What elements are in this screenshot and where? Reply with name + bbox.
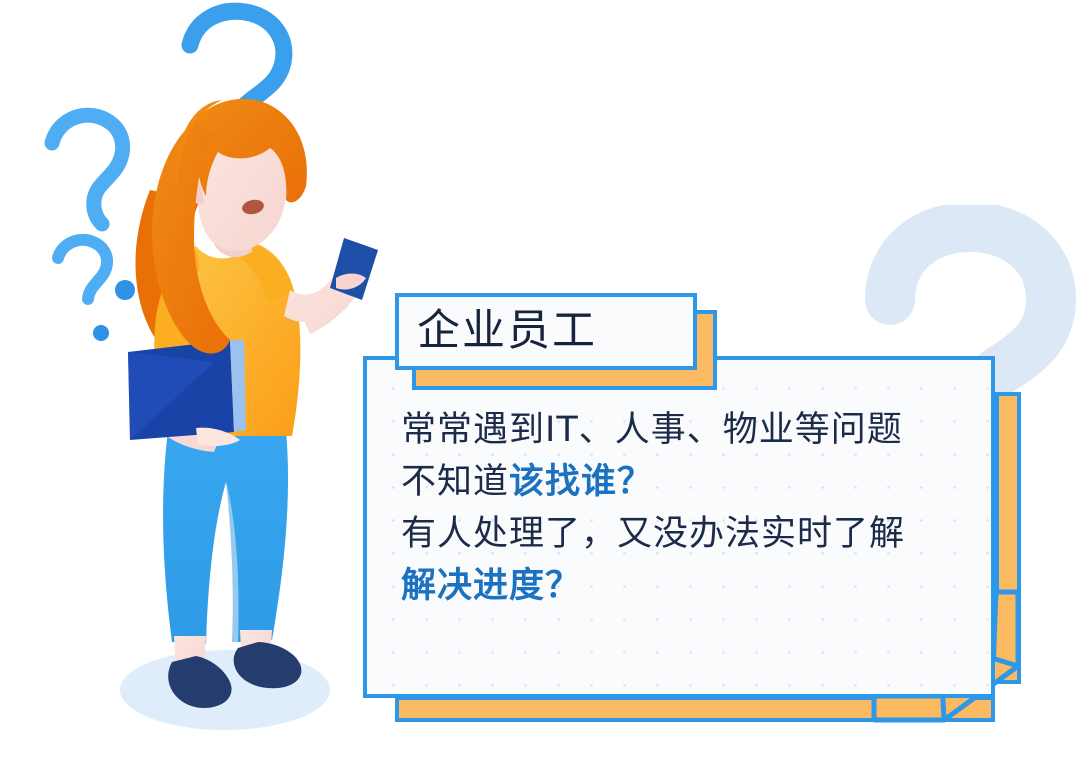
- line-3: 有人处理了，又没办法实时了解: [401, 508, 981, 560]
- line-2: 不知道该找谁？: [401, 456, 981, 508]
- plain-text: 有人处理了，又没办法实时了解: [401, 514, 905, 554]
- legs: [163, 430, 288, 644]
- card-body-text: 常常遇到IT、人事、物业等问题不知道该找谁？有人处理了，又没办法实时了解解决进度…: [401, 404, 981, 612]
- poster-canvas: 常常遇到IT、人事、物业等问题不知道该找谁？有人处理了，又没办法实时了解解决进度…: [0, 0, 1080, 762]
- line-1: 常常遇到IT、人事、物业等问题: [401, 404, 981, 456]
- emphasis-text: 该找谁？: [509, 462, 653, 502]
- line-4: 解决进度？: [401, 560, 981, 612]
- plain-text: 常常遇到IT、人事、物业等问题: [401, 410, 903, 450]
- confused-employee-illustration: [0, 0, 470, 762]
